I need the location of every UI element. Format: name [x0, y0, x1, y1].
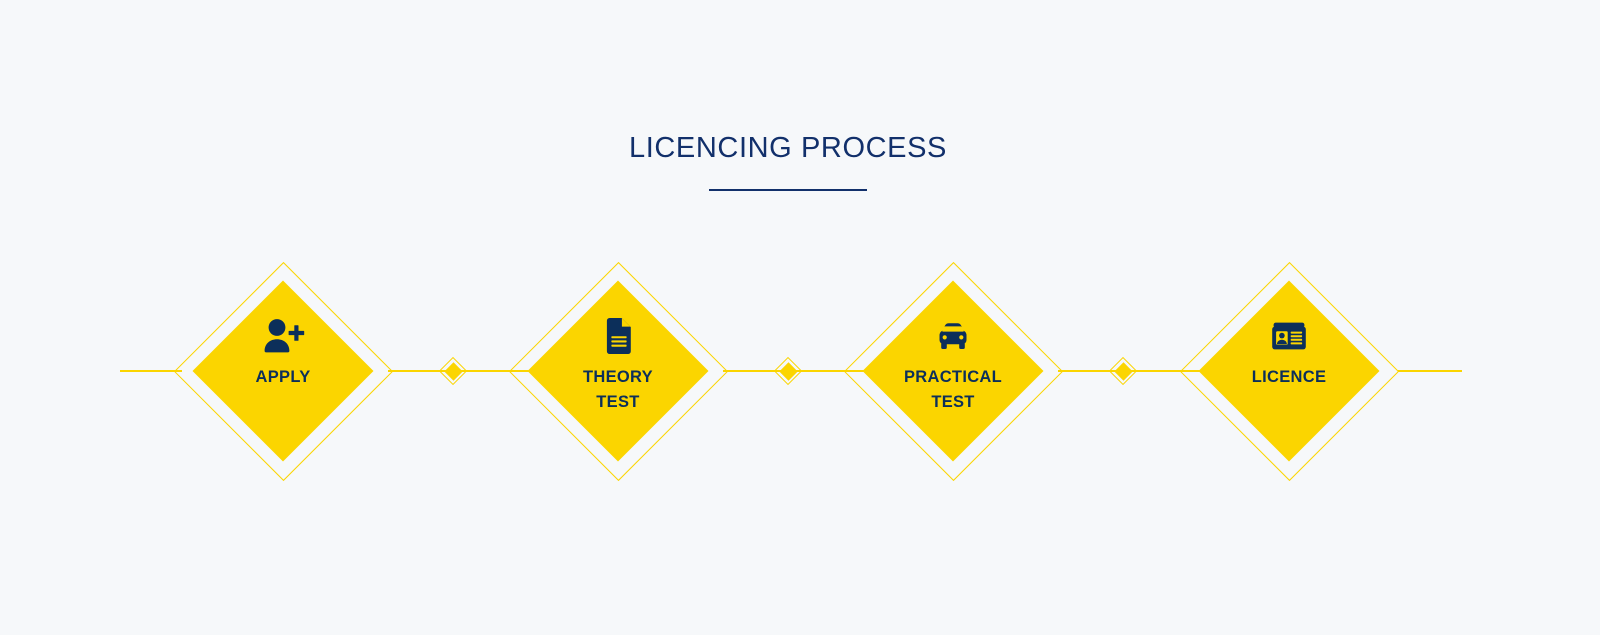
diamond-fill — [192, 280, 373, 461]
process-timeline: APPLY — [0, 0, 1600, 635]
timeline-line-end — [1398, 370, 1462, 372]
diamond-fill — [1198, 280, 1379, 461]
diamond-fill — [862, 280, 1043, 461]
diamond-fill — [527, 280, 708, 461]
licencing-process-infographic: LICENCING PROCESS — [0, 0, 1600, 635]
